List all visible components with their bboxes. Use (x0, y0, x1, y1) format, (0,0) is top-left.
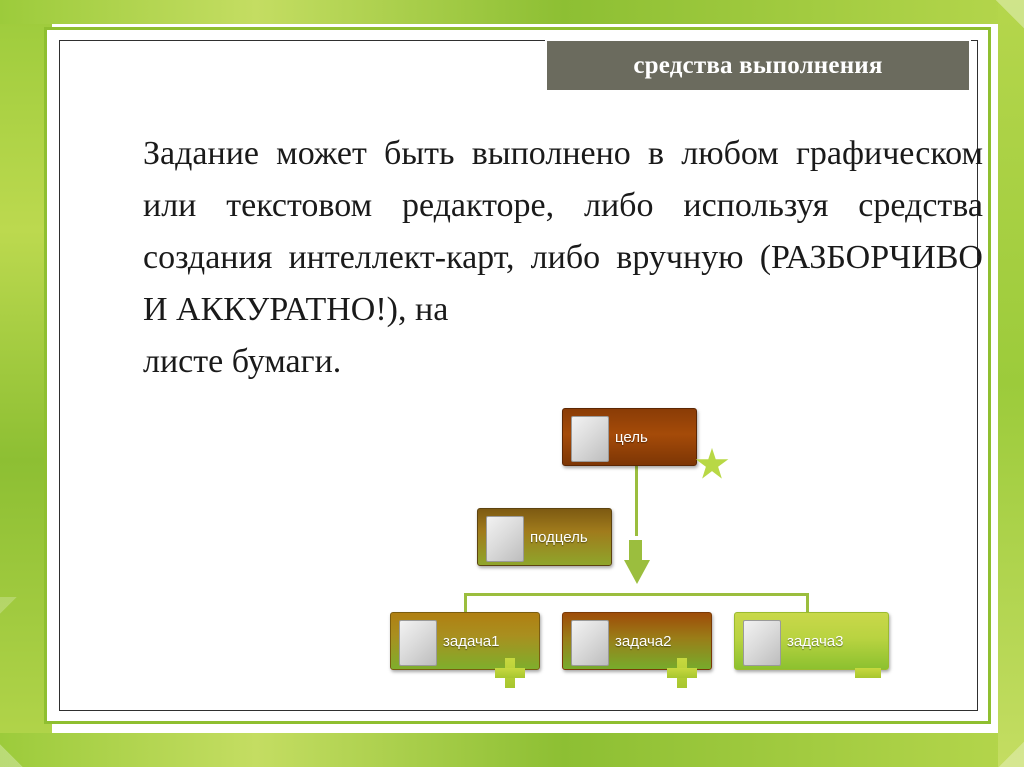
goal-tree-diagram: цель подцель задача1 задача2 задача3 (377, 400, 937, 700)
diagram-node-task3-label: задача3 (787, 613, 843, 669)
decorative-top-border (0, 0, 1024, 24)
slide-content-card: средства выполнения Задание может быть в… (44, 27, 991, 724)
node-chip-icon (571, 620, 609, 666)
diagram-node-task2-label: задача2 (615, 613, 671, 669)
diagram-node-subgoal-label: подцель (530, 509, 588, 565)
body-paragraph-text: Задание может быть выполнено в любом гра… (143, 135, 983, 328)
node-chip-icon (571, 416, 609, 462)
node-chip-icon (743, 620, 781, 666)
plus-icon (495, 658, 525, 688)
page-title: средства выполнения (633, 52, 882, 80)
connector-task3-riser (806, 593, 809, 613)
body-paragraph-last-line: листе бумаги. (143, 336, 983, 388)
body-paragraph: Задание может быть выполнено в любом гра… (143, 128, 983, 388)
diagram-node-goal[interactable]: цель (562, 408, 697, 466)
diagram-node-goal-label: цель (615, 409, 648, 465)
node-chip-icon (486, 516, 524, 562)
arrow-down-icon (624, 560, 650, 584)
node-chip-icon (399, 620, 437, 666)
connector-task1-riser (464, 593, 467, 613)
connector-goal-to-subgoal (635, 466, 638, 536)
diagram-node-task3[interactable]: задача3 (734, 612, 889, 670)
plus-icon (667, 658, 697, 688)
star-burst-icon (695, 448, 729, 482)
diagram-node-subgoal[interactable]: подцель (477, 508, 612, 566)
diagram-node-task1-label: задача1 (443, 613, 499, 669)
slide-title-banner: средства выполнения (545, 39, 971, 92)
slide: средства выполнения Задание может быть в… (0, 0, 1024, 767)
minus-icon (855, 668, 881, 678)
connector-horizontal-bus (464, 593, 809, 596)
